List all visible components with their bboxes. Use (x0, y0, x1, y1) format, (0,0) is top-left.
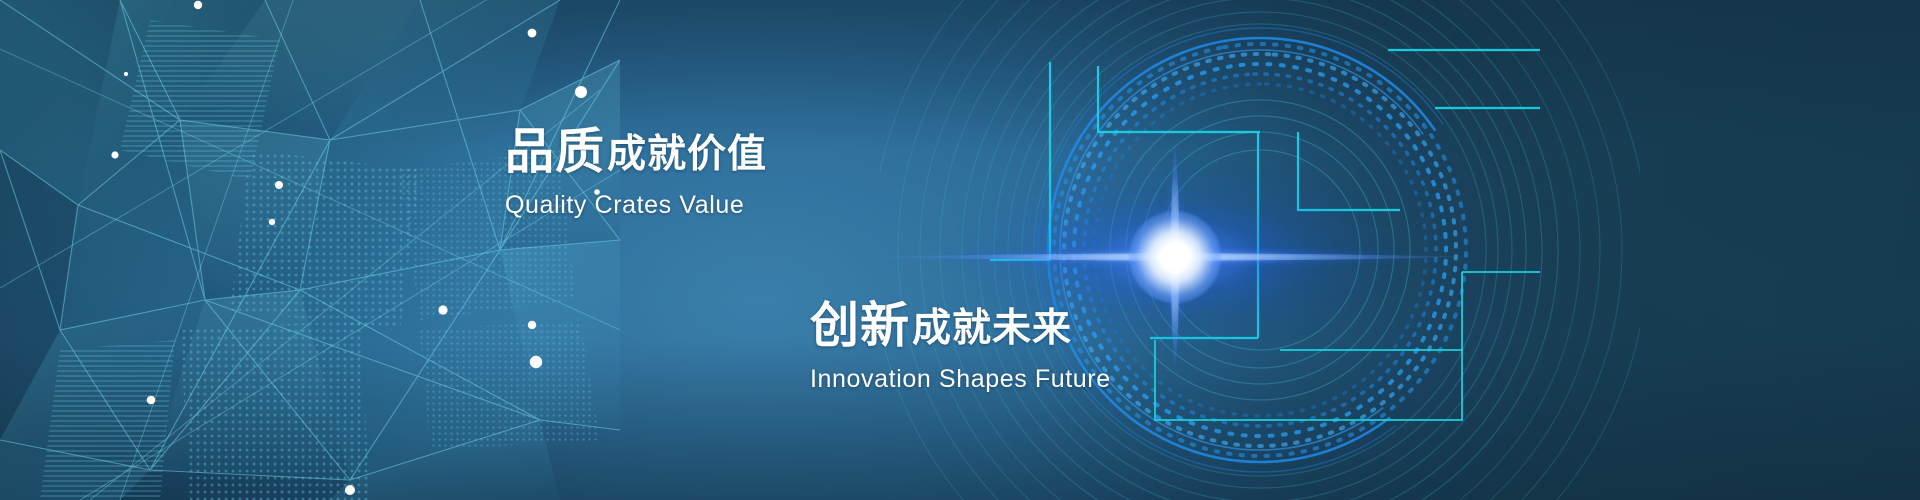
slogan-chinese-line: 品质 成就价值 (505, 128, 767, 177)
slogan-block-quality: 品质 成就价值 Quality Crates Value (505, 128, 767, 220)
slogan-chinese-line: 创新 成就未来 (810, 302, 1111, 351)
slogan-chinese-strong: 品质 (505, 128, 605, 177)
hero-banner: 品质 成就价值 Quality Crates Value 创新 成就未来 Inn… (0, 0, 1920, 500)
slogan-english-line: Innovation Shapes Future (810, 365, 1111, 394)
slogan-english-line: Quality Crates Value (505, 191, 767, 220)
slogan-chinese-light: 成就价值 (605, 135, 767, 174)
slogan-block-innovation: 创新 成就未来 Innovation Shapes Future (810, 302, 1111, 394)
slogan-chinese-strong: 创新 (810, 302, 910, 351)
slogan-chinese-light: 成就未来 (910, 309, 1072, 348)
polygon-mesh-graphic (0, 0, 620, 500)
flare-core (1129, 211, 1221, 303)
